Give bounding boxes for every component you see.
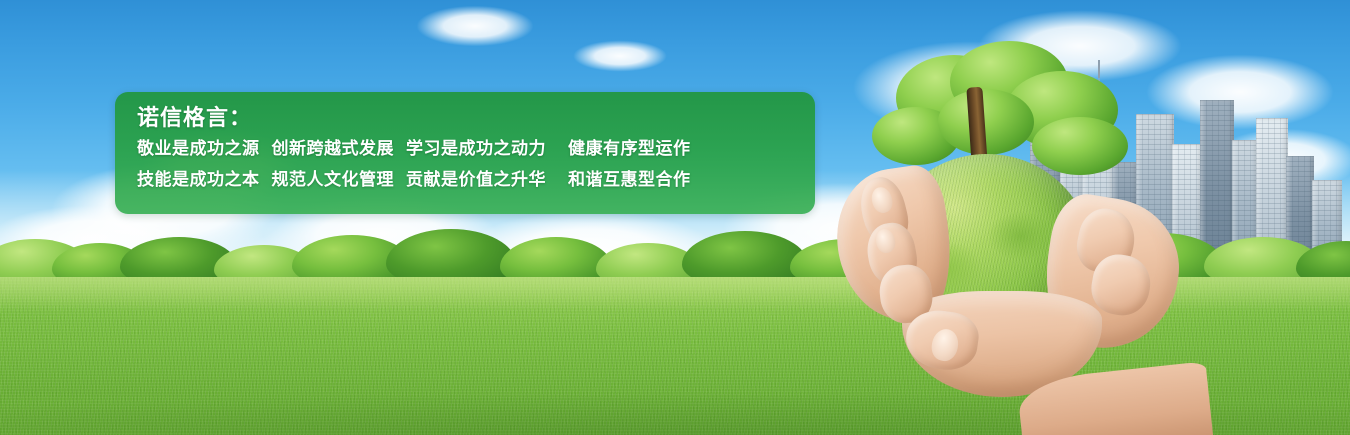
motto-panel-content: 诺信格言： 敬业是成功之源创新跨越式发展学习是成功之动力健康有序型运作 技能是成…: [137, 103, 799, 195]
hands-holding-globe-scene: [810, 41, 1230, 435]
motto-line-1: 敬业是成功之源创新跨越式发展学习是成功之动力健康有序型运作: [137, 133, 799, 164]
tree-canopy: [1032, 117, 1128, 175]
motto-segment: 学习是成功之动力: [406, 133, 546, 164]
motto-segment: 和谐互惠型合作: [568, 164, 691, 195]
motto-segment: 技能是成功之本: [137, 164, 260, 195]
motto-segment: 创新跨越式发展: [272, 133, 395, 164]
motto-panel-title: 诺信格言：: [137, 103, 799, 133]
motto-panel: 诺信格言： 敬业是成功之源创新跨越式发展学习是成功之动力健康有序型运作 技能是成…: [115, 92, 815, 214]
motto-segment: 规范人文化管理: [272, 164, 395, 195]
motto-line-2: 技能是成功之本规范人文化管理贡献是价值之升华和谐互惠型合作: [137, 164, 799, 195]
motto-segment: 健康有序型运作: [568, 133, 691, 164]
eco-banner: 诺信格言： 敬业是成功之源创新跨越式发展学习是成功之动力健康有序型运作 技能是成…: [0, 0, 1350, 435]
motto-segment: 贡献是价值之升华: [406, 164, 546, 195]
motto-segment: 敬业是成功之源: [137, 133, 260, 164]
